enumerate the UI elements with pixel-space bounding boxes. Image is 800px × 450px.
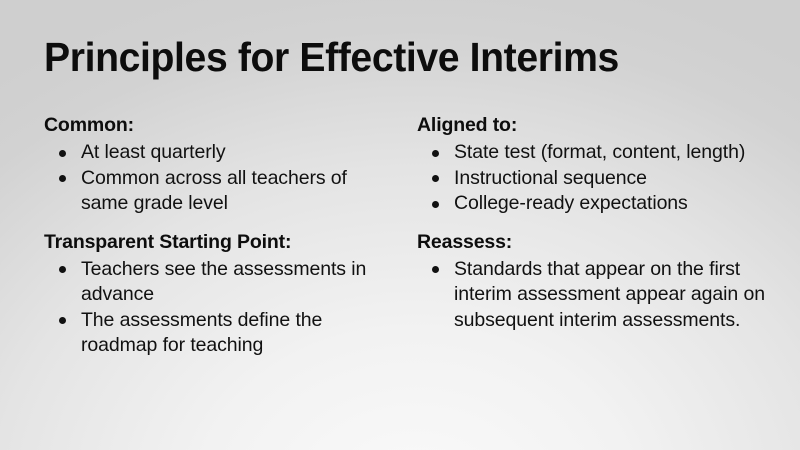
group-aligned-to: Aligned to: State test (format, content,… xyxy=(417,112,769,217)
page-title: Principles for Effective Interims xyxy=(44,32,732,82)
column-left: Common: At least quarterly Common across… xyxy=(44,112,394,359)
bullet-list-reassess: Standards that appear on the first inter… xyxy=(417,257,769,334)
bullet-dot-icon xyxy=(432,266,439,273)
column-right: Aligned to: State test (format, content,… xyxy=(417,112,769,333)
list-item: College-ready expectations xyxy=(417,191,769,217)
bullet-dot-icon xyxy=(59,150,66,157)
list-item-label: Standards that appear on the first inter… xyxy=(454,257,769,334)
bullet-dot-icon xyxy=(432,175,439,182)
list-item-label: Teachers see the assessments in advance xyxy=(81,257,394,308)
group-heading-transparent-starting-point: Transparent Starting Point: xyxy=(44,229,394,255)
group-common: Common: At least quarterly Common across… xyxy=(44,112,394,217)
list-item: Standards that appear on the first inter… xyxy=(417,257,769,334)
list-item-label: State test (format, content, length) xyxy=(454,140,769,166)
list-item: State test (format, content, length) xyxy=(417,140,769,166)
bullet-dot-icon xyxy=(432,201,439,208)
bullet-dot-icon xyxy=(59,266,66,273)
group-transparent-starting-point: Transparent Starting Point: Teachers see… xyxy=(44,229,394,359)
list-item: Common across all teachers of same grade… xyxy=(44,166,394,217)
list-item-label: Common across all teachers of same grade… xyxy=(81,166,394,217)
list-item-label: At least quarterly xyxy=(81,140,394,166)
bullet-list-transparent-starting-point: Teachers see the assessments in advance … xyxy=(44,257,394,359)
list-item-label: The assessments define the roadmap for t… xyxy=(81,308,394,359)
group-heading-common: Common: xyxy=(44,112,394,138)
list-item: Instructional sequence xyxy=(417,166,769,192)
bullet-dot-icon xyxy=(432,150,439,157)
slide-canvas: Principles for Effective Interims Common… xyxy=(0,0,800,450)
group-heading-aligned-to: Aligned to: xyxy=(417,112,769,138)
list-item-label: College-ready expectations xyxy=(454,191,769,217)
bullet-dot-icon xyxy=(59,175,66,182)
bullet-dot-icon xyxy=(59,317,66,324)
group-heading-reassess: Reassess: xyxy=(417,229,769,255)
group-reassess: Reassess: Standards that appear on the f… xyxy=(417,229,769,334)
list-item-label: Instructional sequence xyxy=(454,166,769,192)
list-item: The assessments define the roadmap for t… xyxy=(44,308,394,359)
bullet-list-aligned-to: State test (format, content, length) Ins… xyxy=(417,140,769,217)
bullet-list-common: At least quarterly Common across all tea… xyxy=(44,140,394,217)
list-item: At least quarterly xyxy=(44,140,394,166)
list-item: Teachers see the assessments in advance xyxy=(44,257,394,308)
